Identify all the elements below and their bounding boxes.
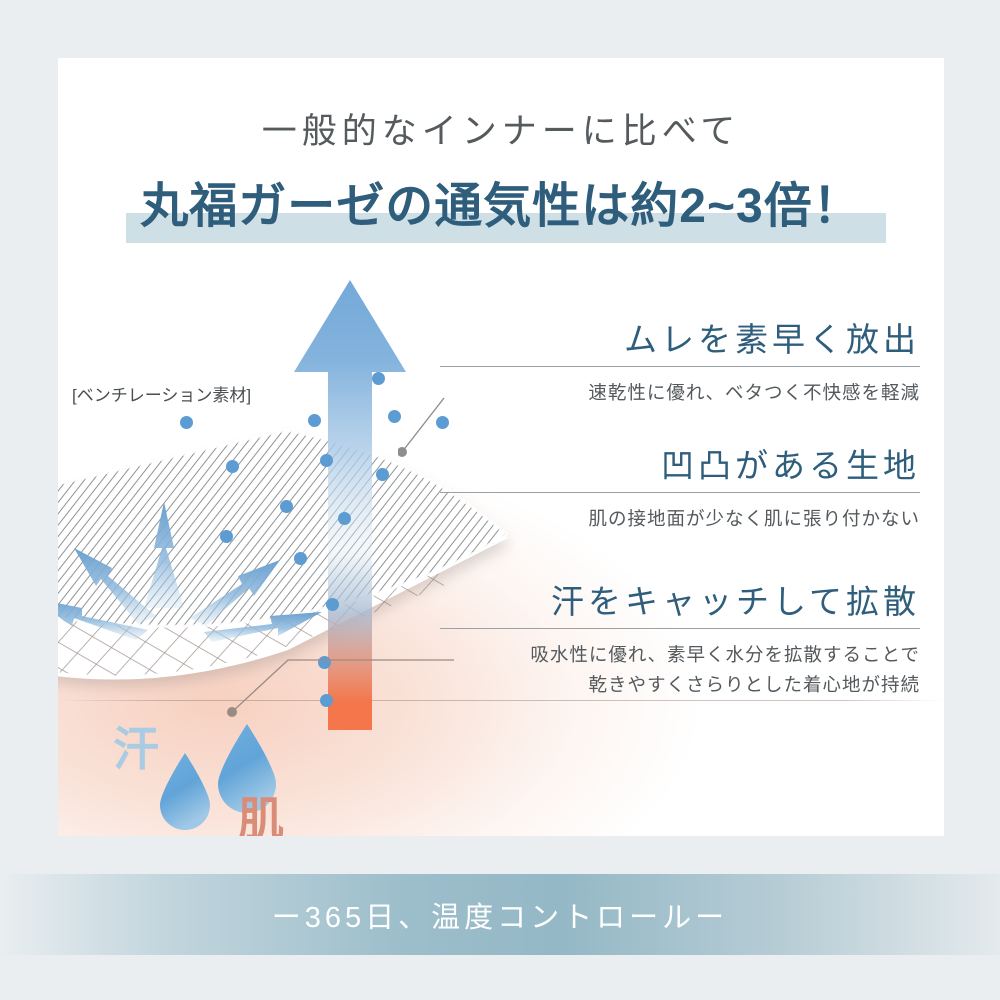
vapor-dot	[320, 454, 333, 467]
subheading: 一般的なインナーに比べて	[58, 103, 944, 154]
vapor-dot	[280, 500, 293, 513]
sweat-label: 汗	[113, 713, 161, 779]
feature-block-1: ムレを素早く放出 速乾性に優れ、ベタつく不快感を軽減	[440, 320, 920, 407]
water-droplet	[154, 751, 216, 831]
leader-line-feature-3	[226, 640, 456, 720]
feature-title: ムレを素早く放出	[440, 320, 920, 360]
feature-block-2: 凹凸がある生地 肌の接地面が少なく肌に張り付かない	[440, 446, 920, 533]
bottom-banner: ー365日、温度コントロールー	[0, 874, 1000, 955]
feature-description-line2: 乾きやすくさらりとした着心地が持続	[440, 671, 920, 700]
feature-title: 凹凸がある生地	[440, 446, 920, 486]
feature-description: 速乾性に優れ、ベタつく不快感を軽減	[440, 379, 920, 408]
vapor-dot	[376, 468, 389, 481]
vapor-dot	[226, 460, 239, 473]
ventilation-material-label: [ベンチレーション素材]	[72, 381, 251, 406]
feature-title: 汗をキャッチして拡散	[440, 582, 920, 622]
banner-text: ー365日、温度コントロールー	[0, 874, 1000, 955]
vapor-dot	[220, 530, 233, 543]
content-card: 一般的なインナーに比べて 丸福ガーゼの通気性は約2~3倍！	[58, 58, 944, 836]
feature-description: 肌の接地面が少なく肌に張り付かない	[440, 505, 920, 534]
headline-wrapper: 丸福ガーゼの通気性は約2~3倍！	[58, 166, 944, 236]
vapor-dot	[338, 512, 351, 525]
feature-block-3: 汗をキャッチして拡散 吸水性に優れ、素早く水分を拡散することで 乾きやすくさらり…	[440, 582, 920, 700]
infographic-root: 一般的なインナーに比べて 丸福ガーゼの通気性は約2~3倍！	[0, 0, 1000, 1000]
feature-divider	[440, 366, 920, 367]
feature-divider	[440, 628, 920, 629]
vapor-dot	[294, 552, 307, 565]
vapor-dot	[372, 372, 385, 385]
vapor-dot	[326, 598, 339, 611]
feature-divider	[440, 492, 920, 493]
skin-label: 肌	[238, 783, 286, 836]
page-title: 丸福ガーゼの通気性は約2~3倍！	[140, 166, 861, 236]
vapor-dot	[180, 416, 193, 429]
feature-description-line1: 吸水性に優れ、素早く水分を拡散することで	[440, 641, 920, 670]
vapor-dot	[308, 414, 321, 427]
